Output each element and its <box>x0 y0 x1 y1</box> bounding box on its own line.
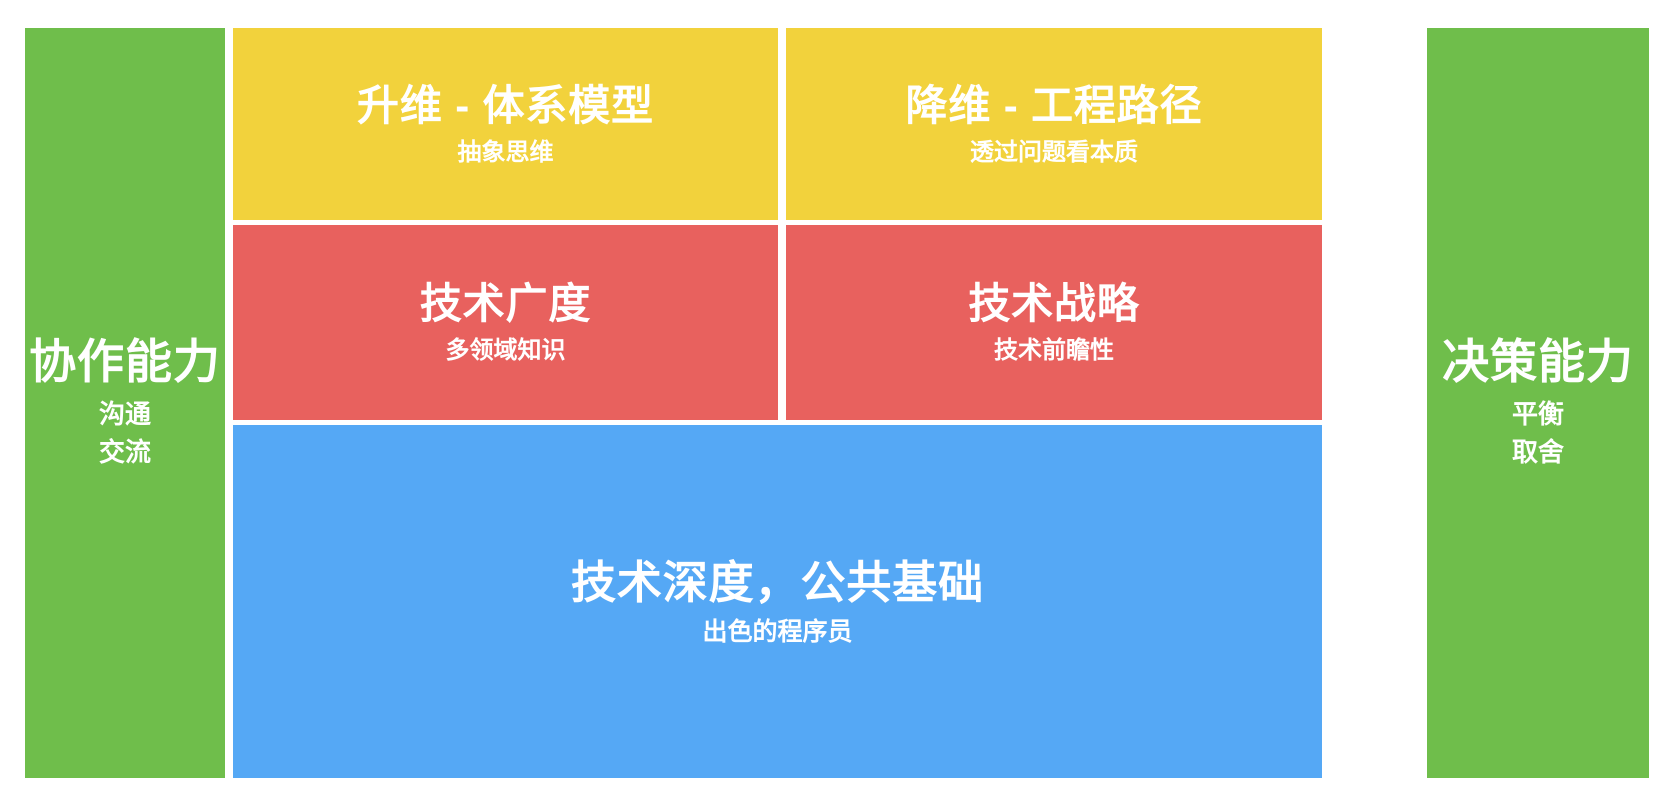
cell-technical-breadth: 技术广度 多领域知识 <box>233 225 778 420</box>
cell-middle-right-subtitle: 技术前瞻性 <box>994 337 1114 365</box>
cell-technical-strategy: 技术战略 技术前瞻性 <box>786 225 1322 420</box>
cell-technical-depth-foundation: 技术深度，公共基础 出色的程序员 <box>233 425 1322 778</box>
panel-left-subtitle-line1: 沟通 <box>99 396 151 434</box>
panel-left-subtitle-line2: 交流 <box>99 434 151 472</box>
cell-middle-right-title: 技术战略 <box>968 280 1139 328</box>
panel-right-subtitle-line1: 平衡 <box>1512 396 1564 434</box>
cell-dimension-down-engineering-path: 降维 - 工程路径 透过问题看本质 <box>786 28 1322 220</box>
panel-left-title: 协作能力 <box>29 335 221 389</box>
panel-right-title: 决策能力 <box>1442 335 1634 389</box>
panel-decision-ability: 决策能力 平衡 取舍 <box>1427 28 1649 778</box>
panel-right-subtitle: 平衡 取舍 <box>1512 396 1564 471</box>
panel-collaboration-ability: 协作能力 沟通 交流 <box>25 28 225 778</box>
cell-middle-left-subtitle: 多领域知识 <box>446 337 566 365</box>
cell-upper-right-title: 降维 - 工程路径 <box>906 82 1203 130</box>
panel-left-subtitle: 沟通 交流 <box>99 396 151 471</box>
cell-foundation-title: 技术深度，公共基础 <box>571 557 984 609</box>
cell-upper-left-subtitle: 抽象思维 <box>458 139 554 167</box>
cell-dimension-up-system-model: 升维 - 体系模型 抽象思维 <box>233 28 778 220</box>
cell-upper-right-subtitle: 透过问题看本质 <box>970 139 1138 167</box>
cell-upper-left-title: 升维 - 体系模型 <box>357 82 654 130</box>
cell-foundation-subtitle: 出色的程序员 <box>702 618 852 647</box>
capability-model-diagram: 协作能力 沟通 交流 升维 - 体系模型 抽象思维 降维 - 工程路径 透过问题… <box>0 0 1678 800</box>
cell-middle-left-title: 技术广度 <box>420 280 591 328</box>
panel-right-subtitle-line2: 取舍 <box>1512 434 1564 472</box>
